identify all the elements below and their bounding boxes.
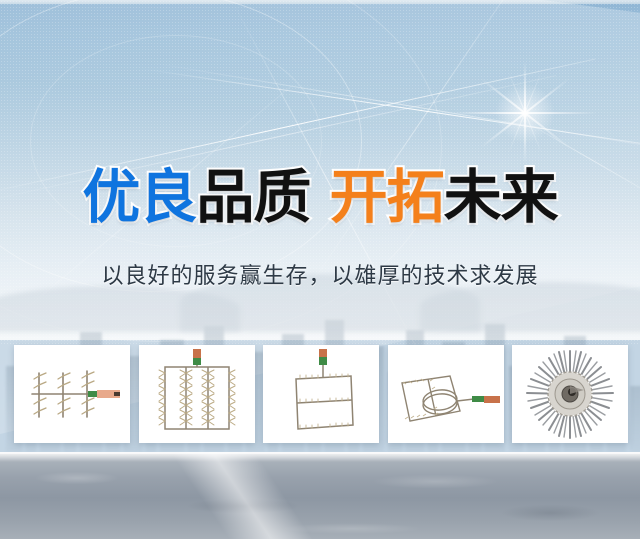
product-card-5[interactable] (512, 345, 628, 443)
subtitle: 以良好的服务赢生存，以雄厚的技术求发展 (0, 258, 640, 290)
product-thumbnail-row (14, 345, 628, 443)
radial-sunburst-rack-icon (512, 345, 628, 443)
headline-segment-4: 未来 (444, 163, 558, 231)
product-card-1[interactable] (14, 345, 130, 443)
product-card-3[interactable] (263, 345, 379, 443)
product-card-2[interactable] (139, 345, 255, 443)
headline-segment-1: 优良 (82, 163, 196, 231)
headline: 优良品质 开拓未来 (0, 163, 640, 231)
ring-frame-rack-icon (388, 345, 504, 443)
product-card-4[interactable] (388, 345, 504, 443)
concrete-ground (0, 452, 640, 539)
double-row-spike-rack-icon (139, 345, 255, 443)
promo-banner: 优良品质 开拓未来 以良好的服务赢生存，以雄厚的技术求发展 (0, 0, 640, 539)
flat-frame-rack-icon (263, 345, 379, 443)
headline-segment-2: 品质 (196, 163, 310, 231)
comb-rack-fixture-icon (14, 345, 130, 443)
ground-texture (0, 452, 640, 539)
headline-segment-3: 开拓 (330, 163, 444, 231)
headline-segment-gap (310, 163, 329, 231)
